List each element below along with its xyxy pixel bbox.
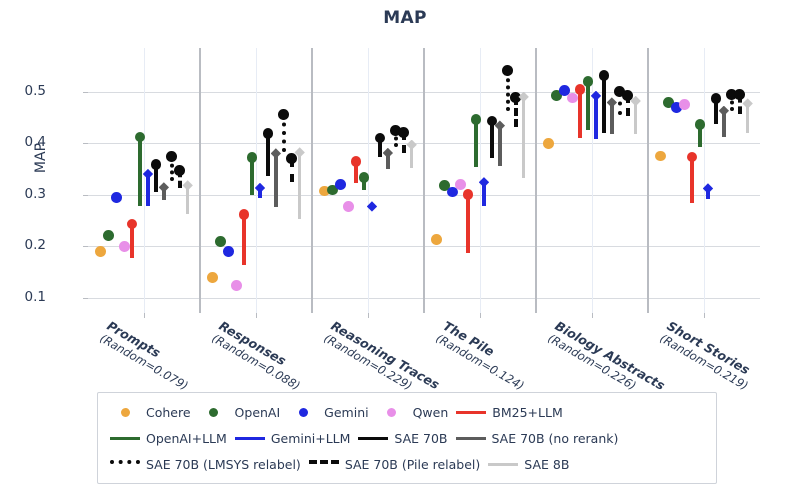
legend-item[interactable]: SAE 70B (no rerank) — [454, 431, 619, 446]
legend-line-icon — [110, 437, 140, 440]
legend-label: SAE 70B (no rerank) — [492, 431, 619, 446]
data-point — [359, 172, 370, 183]
y-axis-tick: 0.2 — [0, 237, 46, 253]
legend-swatch — [454, 411, 488, 414]
x-axis-tick-mark — [256, 313, 257, 318]
data-point-diamond — [607, 97, 617, 107]
gridline-vertical — [256, 48, 257, 313]
data-point — [622, 90, 633, 101]
x-axis-tick-mark — [480, 313, 481, 318]
legend-swatch — [108, 437, 142, 440]
data-point-diamond — [383, 148, 393, 158]
data-point — [111, 192, 122, 203]
data-point — [502, 65, 513, 76]
legend-dot-icon — [121, 408, 130, 417]
x-axis-tick-mark — [592, 313, 593, 318]
x-axis-tick-mark — [704, 313, 705, 318]
data-point-diamond — [159, 182, 169, 192]
data-point — [263, 128, 274, 139]
series-stem — [274, 153, 278, 207]
series-stem — [138, 137, 142, 206]
legend-label: Cohere — [146, 405, 191, 420]
y-axis-tick: 0.4 — [0, 134, 46, 150]
legend-swatch — [108, 408, 142, 417]
legend-swatch — [486, 463, 520, 466]
series-stem — [466, 195, 470, 254]
legend-label: Qwen — [413, 405, 449, 420]
data-point-diamond — [406, 140, 416, 150]
legend-item[interactable]: Qwen — [375, 405, 449, 420]
data-point — [174, 165, 185, 176]
series-stem — [594, 96, 598, 139]
data-point-diamond — [719, 106, 729, 116]
data-point — [278, 109, 289, 120]
data-point — [567, 93, 578, 104]
data-point — [375, 133, 386, 144]
legend-swatch — [197, 408, 231, 417]
data-point — [127, 219, 138, 230]
data-point — [655, 151, 666, 162]
legend-dot-icon — [299, 408, 308, 417]
data-point — [207, 272, 218, 283]
x-axis-tick-prompts: Prompts(Random=0.079) — [98, 318, 199, 393]
data-point — [119, 241, 130, 252]
legend-label: Gemini+LLM — [271, 431, 351, 446]
series-stem — [586, 81, 590, 130]
legend-line-icon — [488, 463, 518, 466]
legend-line-icon — [358, 437, 388, 440]
legend-label: Gemini — [324, 405, 368, 420]
series-stem — [690, 157, 694, 203]
legend-row: OpenAI+LLMGemini+LLMSAE 70BSAE 70B (no r… — [108, 425, 706, 451]
data-point — [151, 159, 162, 170]
legend-label: BM25+LLM — [492, 405, 562, 420]
data-point — [335, 179, 346, 190]
data-point — [583, 76, 594, 87]
gridline-vertical — [144, 48, 145, 313]
series-stem — [474, 120, 478, 167]
series-stem — [242, 215, 246, 265]
data-point — [166, 151, 177, 162]
data-point — [286, 153, 297, 164]
data-point — [239, 209, 250, 220]
legend-label: OpenAI+LLM — [146, 431, 227, 446]
legend-line-icon — [456, 437, 486, 440]
legend-label: OpenAI — [235, 405, 281, 420]
series-stem — [266, 133, 270, 175]
data-point — [431, 234, 442, 245]
chart-canvas: MAP MAP 0.10.20.30.40.5 Prompts(Random=0… — [0, 0, 810, 501]
data-point — [351, 156, 362, 167]
data-point — [343, 201, 354, 212]
legend-line-icon — [456, 411, 486, 414]
data-point — [398, 127, 409, 138]
legend-label: SAE 8B — [524, 457, 569, 472]
legend-swatch — [286, 408, 320, 417]
data-point — [463, 189, 474, 200]
series-stem — [490, 121, 494, 158]
y-axis-tick: 0.5 — [0, 83, 46, 99]
x-axis-tick-mark — [144, 313, 145, 318]
legend-line-icon — [235, 437, 265, 440]
data-point — [543, 138, 554, 149]
gridline-vertical — [704, 48, 705, 313]
data-point — [734, 89, 745, 100]
data-point — [455, 179, 466, 190]
x-axis-tick-responses: Responses(Random=0.088) — [210, 318, 311, 393]
legend-label: SAE 70B — [394, 431, 447, 446]
category-separator — [199, 48, 201, 313]
legend: CohereOpenAIGeminiQwenBM25+LLMOpenAI+LLM… — [97, 392, 717, 484]
legend-swatch — [454, 437, 488, 440]
legend-item[interactable]: SAE 70B (Pile relabel) — [307, 457, 480, 472]
legend-swatch — [108, 460, 142, 468]
legend-dotted-line-icon — [110, 460, 140, 468]
legend-swatch — [307, 460, 341, 468]
legend-item[interactable]: SAE 8B — [486, 457, 569, 472]
legend-label: SAE 70B (LMSYS relabel) — [146, 457, 301, 472]
data-point-diamond — [271, 148, 281, 158]
data-point — [95, 246, 106, 257]
legend-label: SAE 70B (Pile relabel) — [345, 457, 480, 472]
data-point — [599, 70, 610, 81]
legend-item[interactable]: SAE 70B — [356, 431, 447, 446]
legend-item[interactable]: BM25+LLM — [454, 405, 562, 420]
series-stem — [506, 71, 510, 111]
series-stem — [298, 152, 302, 219]
legend-row: SAE 70B (LMSYS relabel)SAE 70B (Pile rel… — [108, 451, 706, 477]
data-point — [231, 280, 242, 291]
category-separator — [311, 48, 313, 313]
x-axis-tick-mark — [368, 313, 369, 318]
legend-swatch — [356, 437, 390, 440]
series-stem — [578, 89, 582, 138]
data-point — [687, 152, 698, 163]
category-separator — [423, 48, 425, 313]
legend-item[interactable]: Cohere — [108, 405, 191, 420]
plot-area — [88, 48, 760, 313]
data-point — [711, 93, 722, 104]
data-point-diamond — [182, 180, 192, 190]
data-point — [215, 236, 226, 247]
series-stem — [522, 97, 526, 178]
page-title: MAP — [0, 8, 810, 28]
category-separator — [647, 48, 649, 313]
legend-item[interactable]: Gemini+LLM — [233, 431, 351, 446]
x-axis-tick-the-pile: The Pile(Random=0.124) — [434, 318, 535, 393]
data-point-diamond — [742, 98, 752, 108]
data-point — [223, 246, 234, 257]
legend-row: CohereOpenAIGeminiQwenBM25+LLM — [108, 399, 706, 425]
x-axis-tick-short-stories: Short Stories(Random=0.219) — [658, 318, 759, 393]
legend-item[interactable]: OpenAI — [197, 405, 281, 420]
legend-dot-icon — [387, 408, 396, 417]
series-stem — [282, 114, 286, 152]
series-stem — [130, 224, 134, 258]
legend-dashed-line-icon — [309, 460, 339, 468]
legend-dot-icon — [209, 408, 218, 417]
series-stem — [602, 75, 606, 133]
category-separator — [535, 48, 537, 313]
legend-item[interactable]: OpenAI+LLM — [108, 431, 227, 446]
gridline-vertical — [592, 48, 593, 313]
data-point — [103, 230, 114, 241]
legend-item[interactable]: SAE 70B (LMSYS relabel) — [108, 457, 301, 472]
data-point — [679, 99, 690, 110]
y-axis-tick: 0.3 — [0, 186, 46, 202]
legend-swatch — [375, 408, 409, 417]
series-stem — [250, 158, 254, 195]
series-stem — [498, 126, 502, 167]
legend-item[interactable]: Gemini — [286, 405, 368, 420]
y-axis-tick: 0.1 — [0, 289, 46, 305]
legend-swatch — [233, 437, 267, 440]
